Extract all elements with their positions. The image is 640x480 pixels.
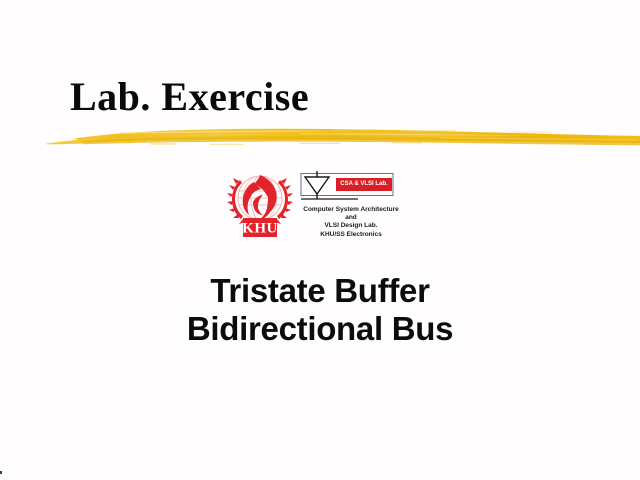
- lab-logo: CSA & VLSI Lab. Computer System Architec…: [298, 170, 404, 244]
- svg-text:KHU: KHU: [242, 221, 278, 237]
- presentation-slide: Lab. Exercise: [0, 0, 640, 480]
- subtitle-line-1: Tristate Buffer: [0, 272, 640, 310]
- lab-caption-line: and: [298, 214, 404, 222]
- khu-university-crest-icon: KHU: [224, 168, 296, 244]
- page-title: Lab. Exercise: [70, 76, 309, 118]
- lab-badge: CSA & VLSI Lab.: [336, 178, 392, 191]
- logo-band: KHU CSA & VLSI Lab.: [224, 166, 404, 248]
- lab-caption-line: Computer System Architecture: [298, 206, 404, 214]
- corner-artifact: [0, 471, 2, 474]
- subtitle-line-2: Bidirectional Bus: [0, 310, 640, 348]
- subtitle-block: Tristate Buffer Bidirectional Bus: [0, 272, 640, 348]
- lab-caption-line: KHU/SS Electronics: [298, 231, 404, 239]
- lab-caption-line: VLSI Design Lab.: [298, 222, 404, 230]
